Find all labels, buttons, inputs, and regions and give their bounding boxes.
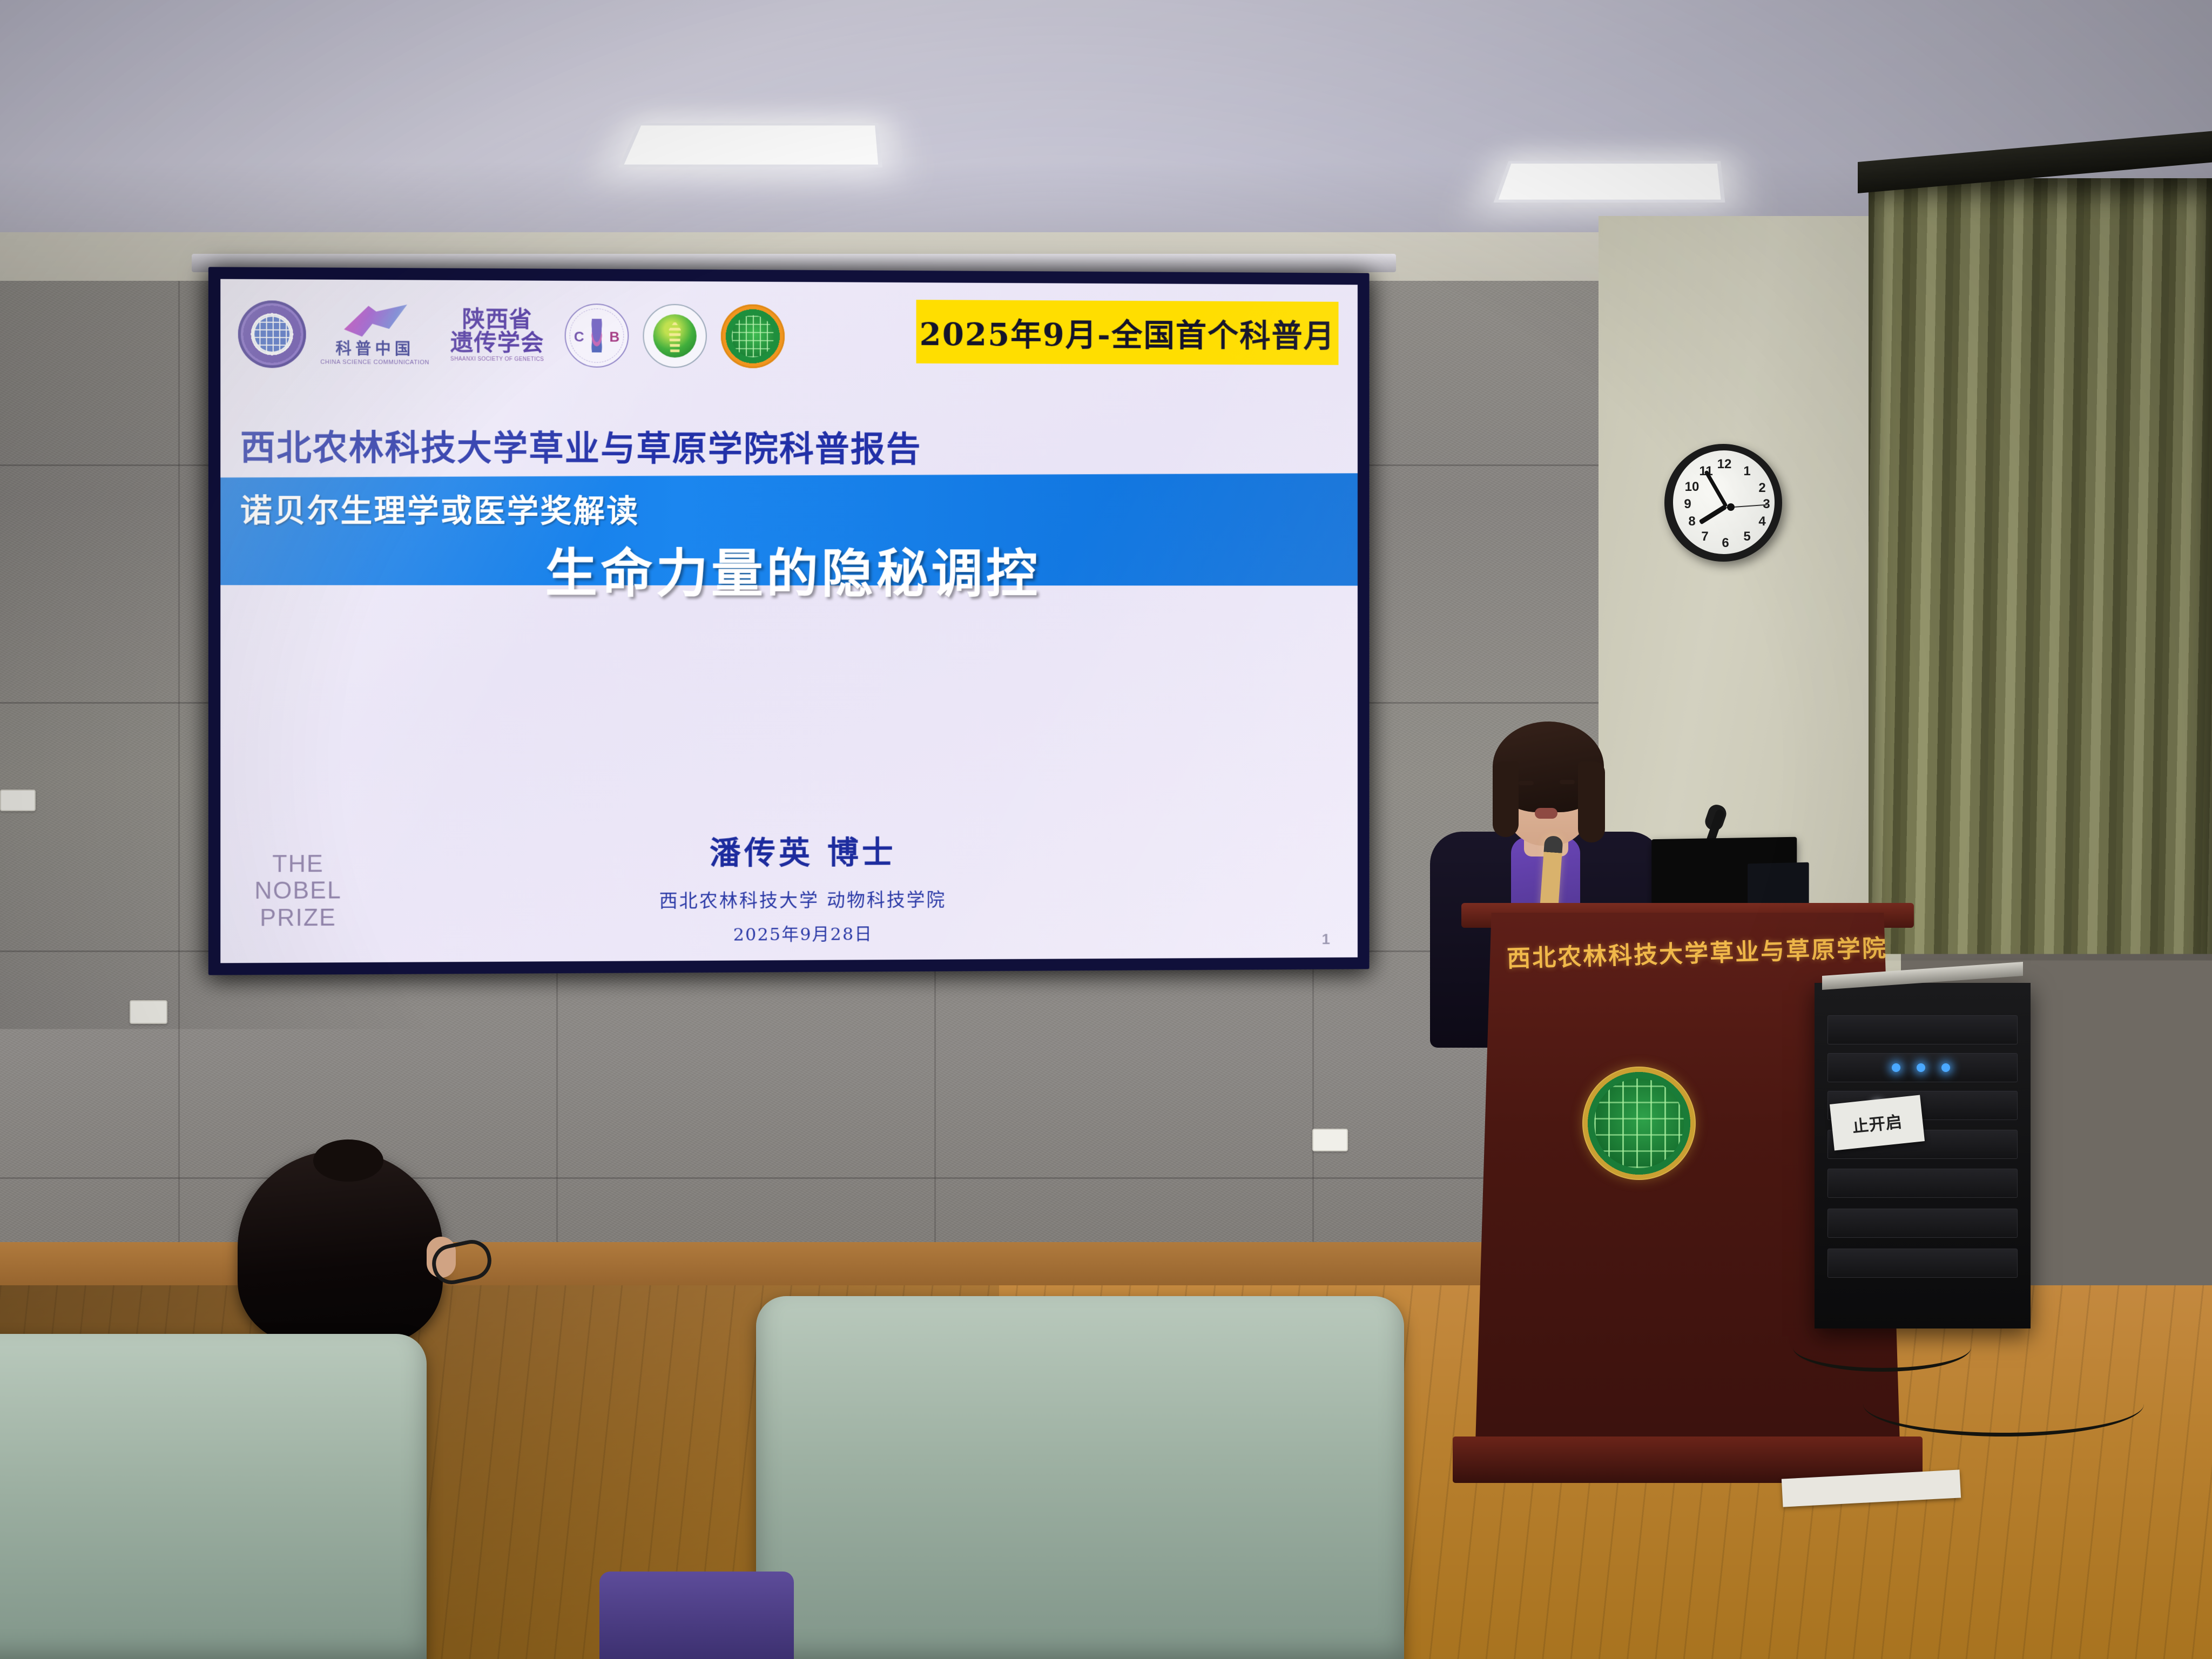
wall-socket: [0, 790, 36, 811]
power-led-icon: [1941, 1063, 1950, 1072]
clock-numeral-5: 5: [1739, 530, 1755, 543]
power-led-icon: [1917, 1063, 1925, 1072]
presenter-affiliation: 西北农林科技大学 动物科技学院: [505, 885, 1098, 914]
nobel-prize-wordmark: THE NOBEL PRIZE: [254, 851, 341, 932]
rack-unit: [1827, 1169, 2018, 1198]
university-emblem-disc: [653, 314, 697, 358]
logo-label-cn-line1: 陕西省: [462, 308, 532, 332]
science-communication-bird-icon: [343, 304, 407, 340]
northwest-a-f-university-logo: [643, 304, 706, 368]
projection-screen: 科普中国 CHINA SCIENCE COMMUNICATION 陕西省 遗传学…: [208, 267, 1370, 975]
clock-face: 12 1 2 3 4 5 6 7 8 9 10 11: [1673, 450, 1775, 554]
clock-numeral-7: 7: [1697, 530, 1713, 543]
clock-hour-hand: [1699, 504, 1727, 524]
seated-person-jacket: [599, 1572, 794, 1659]
av-equipment-rack: [1815, 983, 2031, 1328]
slide-subtitle-secondary: 诺贝尔生理学或医学奖解读: [240, 485, 640, 531]
wall-socket: [130, 1000, 167, 1024]
clock-minute-hand: [1704, 470, 1728, 507]
clock-numeral-4: 4: [1754, 515, 1770, 528]
slide-logo-strip: 科普中国 CHINA SCIENCE COMMUNICATION 陕西省 遗传学…: [238, 293, 785, 377]
logo-label-cn-line2: 遗传学会: [450, 331, 544, 355]
clock-numeral-9: 9: [1680, 498, 1696, 511]
speaker-mouth: [1535, 808, 1557, 819]
podium-secondary-screen[interactable]: [1748, 862, 1809, 909]
audience-member-hair-bun: [313, 1139, 383, 1182]
rack-unit: [1827, 1209, 2018, 1238]
auditorium-seat: [756, 1296, 1404, 1659]
clock-numeral-8: 8: [1684, 515, 1700, 528]
college-emblem-ring: [1582, 1067, 1696, 1180]
power-led-icon: [1892, 1063, 1900, 1072]
speaker-hair-left: [1493, 761, 1519, 837]
china-science-communication-logo: 科普中国 CHINA SCIENCE COMMUNICATION: [320, 304, 429, 366]
banner-text: 2025年9月-全国首个科普月: [920, 309, 1336, 356]
clock-numeral-1: 1: [1739, 465, 1755, 478]
slide-page-number: 1: [1321, 930, 1330, 948]
auditorium-seat: [1923, 1469, 2212, 1659]
clock-numeral-10: 10: [1684, 481, 1700, 494]
clock-numeral-2: 2: [1754, 482, 1770, 495]
cast-globe-logo-icon: [238, 300, 306, 368]
wall-panel-seam: [178, 281, 180, 1269]
wall-socket: [1312, 1129, 1348, 1151]
slide-main-title: 生命力量的隐秘调控: [220, 531, 1358, 607]
shaanxi-society-of-genetics-logo: 陕西省 遗传学会 SHAANXI SOCIETY OF GENETICS: [444, 308, 551, 363]
science-month-banner: 2025年9月-全国首个科普月: [916, 300, 1339, 365]
rack-warning-sign: 止开启: [1830, 1095, 1925, 1150]
floor-cable: [1793, 1323, 1971, 1372]
rack-unit: [1827, 1015, 2018, 1044]
presentation-date: 2025年9月28日: [505, 919, 1098, 947]
presenter-block: 潘传英 博士 西北农林科技大学 动物科技学院 2025年9月28日: [505, 826, 1098, 947]
wheat-icon: [669, 321, 681, 352]
nobel-line-2: NOBEL: [254, 877, 341, 904]
wall-clock: 12 1 2 3 4 5 6 7 8 9 10 11: [1664, 444, 1782, 562]
auditorium-seat: [0, 1334, 427, 1659]
logo-letter-b: B: [609, 329, 619, 346]
clock-center-pin: [1727, 503, 1735, 511]
floor-cable: [1863, 1372, 2144, 1437]
rack-unit: [1827, 1249, 2018, 1278]
logo-label-en: CHINA SCIENCE COMMUNICATION: [320, 359, 429, 366]
logo-label-cn: 科普中国: [335, 341, 414, 358]
logo-label-en: SHAANXI SOCIETY OF GENETICS: [450, 356, 544, 363]
clock-numeral-6: 6: [1717, 537, 1734, 550]
slide-subtitle-primary: 西北农林科技大学草业与草原学院科普报告: [240, 420, 922, 471]
rack-sign-text: 止开启: [1851, 1108, 1903, 1137]
cell-biology-society-logo: C B: [565, 304, 629, 368]
college-of-grassland-agriculture-logo: [721, 304, 785, 368]
lecture-hall-photo: 科普中国 CHINA SCIENCE COMMUNICATION 陕西省 遗传学…: [0, 0, 2212, 1659]
projected-slide: 科普中国 CHINA SCIENCE COMMUNICATION 陕西省 遗传学…: [220, 279, 1358, 963]
nobel-line-3: PRIZE: [254, 904, 341, 931]
speaker-eye-right: [1560, 780, 1575, 784]
clock-numeral-12: 12: [1716, 458, 1732, 471]
logo-letter-c: C: [574, 328, 584, 345]
presenter-name: 潘传英 博士: [505, 826, 1098, 874]
rack-unit: [1827, 1053, 2018, 1082]
ceiling-light-panel-right: [1494, 161, 1725, 203]
speaker-hair-right: [1578, 761, 1605, 842]
speaker-eye-left: [1519, 781, 1534, 785]
ceiling-light-panel-left: [619, 123, 882, 167]
nobel-line-1: THE: [254, 851, 341, 878]
